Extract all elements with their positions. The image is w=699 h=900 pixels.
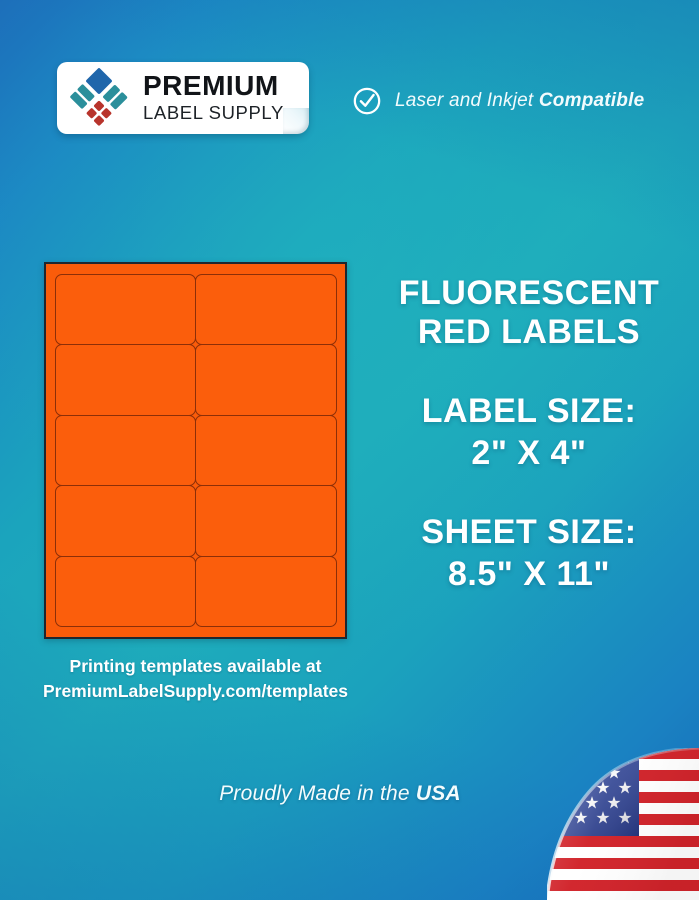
label-size-block: LABEL SIZE: 2" X 4" <box>368 392 690 473</box>
sheet-size-value: 8.5" X 11" <box>368 555 690 594</box>
templates-note-line2: PremiumLabelSupply.com/templates <box>0 679 391 704</box>
brand-name-primary: PREMIUM <box>143 72 284 100</box>
label-cell <box>55 344 197 416</box>
sheet-size-block: SHEET SIZE: 8.5" X 11" <box>368 513 690 594</box>
made-in-prefix: Proudly Made in the <box>219 782 416 805</box>
label-grid <box>55 274 336 627</box>
compatibility-prefix: Laser and Inkjet <box>395 90 539 111</box>
check-circle-icon <box>352 86 382 116</box>
sheet-size-caption: SHEET SIZE: <box>368 513 690 552</box>
templates-note-line1: Printing templates available at <box>0 654 391 679</box>
label-cell <box>55 274 197 346</box>
product-specs: FLUORESCENT RED LABELS LABEL SIZE: 2" X … <box>368 274 690 594</box>
label-sheet-preview <box>44 262 347 639</box>
label-size-caption: LABEL SIZE: <box>368 392 690 431</box>
brand-name-secondary: LABEL SUPPLY <box>143 102 284 123</box>
compatibility-emphasis: Compatible <box>539 90 644 111</box>
label-size-value: 2" X 4" <box>368 434 690 473</box>
label-cell <box>195 485 337 557</box>
product-poster: PREMIUM LABEL SUPPLY Laser and Inkjet Co… <box>0 0 699 900</box>
compatibility-text: Laser and Inkjet Compatible <box>395 90 644 112</box>
brand-logo-badge: PREMIUM LABEL SUPPLY <box>57 62 309 134</box>
label-cell <box>55 415 197 487</box>
label-cell <box>195 556 337 628</box>
product-title-line2: RED LABELS <box>368 313 690 352</box>
made-in-emphasis: USA <box>416 782 461 805</box>
label-cell <box>55 556 197 628</box>
label-cell <box>195 415 337 487</box>
templates-note: Printing templates available at PremiumL… <box>0 654 391 704</box>
label-cell <box>55 485 197 557</box>
usa-flag-page-curl-icon <box>547 748 699 900</box>
label-cell <box>195 274 337 346</box>
product-title-line1: FLUORESCENT <box>368 274 690 313</box>
compatibility-badge: Laser and Inkjet Compatible <box>352 86 644 116</box>
label-cell <box>195 344 337 416</box>
diamond-tiles-logo-icon <box>67 66 130 129</box>
brand-wordmark: PREMIUM LABEL SUPPLY <box>143 72 284 123</box>
